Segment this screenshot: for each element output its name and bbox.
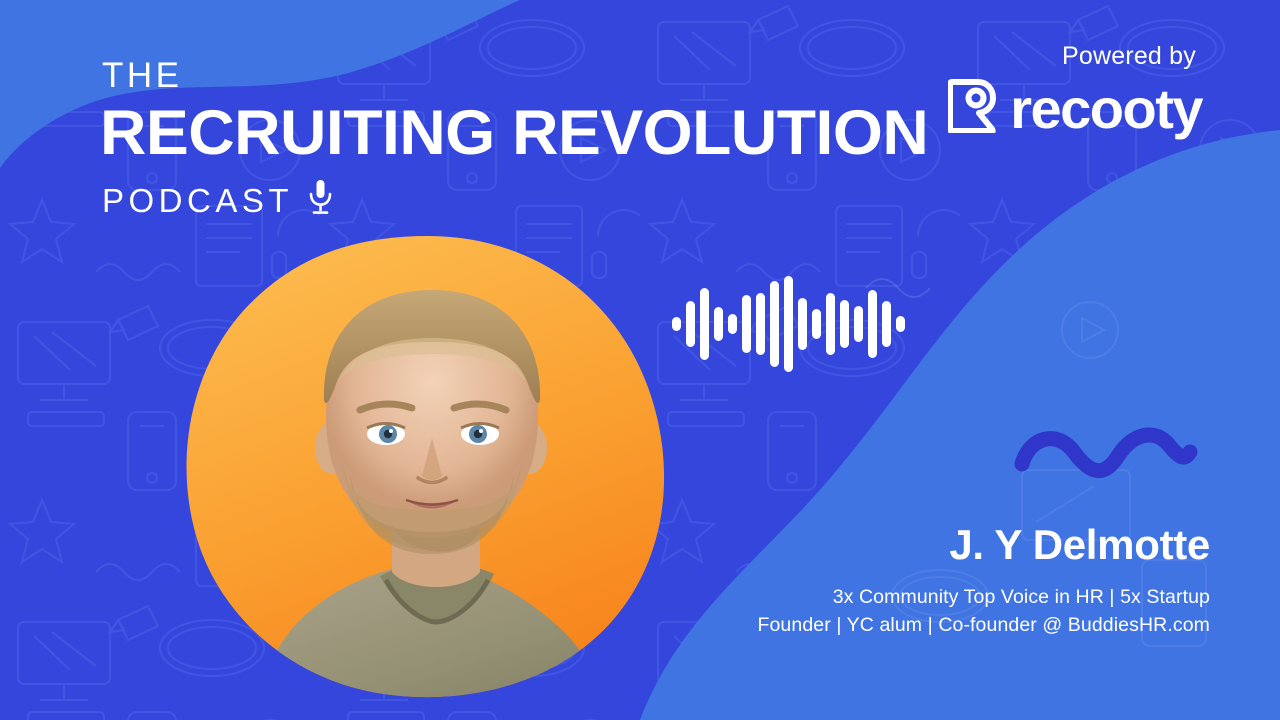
microphone-icon — [307, 179, 334, 221]
waveform-bar — [854, 306, 863, 342]
waveform-bar — [686, 301, 695, 347]
waveform-bar — [784, 276, 793, 372]
waveform-bar — [798, 298, 807, 350]
waveform-bar — [770, 281, 779, 367]
waveform-bar — [728, 314, 737, 334]
waveform-bar — [868, 290, 877, 358]
subtitle-podcast: PODCAST — [102, 184, 293, 217]
guest-bio-line-2: Founder | YC alum | Co-founder @ Buddies… — [670, 612, 1210, 640]
waveform-bar — [756, 293, 765, 355]
podcast-row: PODCAST — [102, 179, 900, 221]
powered-by-label: Powered by — [948, 44, 1196, 69]
recooty-logo: recooty — [948, 79, 1202, 138]
audio-waveform-icon — [672, 278, 912, 370]
recooty-magnifier-logo-icon — [948, 79, 998, 138]
waveform-bar — [896, 316, 905, 332]
waveform-bar — [840, 300, 849, 348]
page-title: RECRUITING REVOLUTION — [100, 101, 916, 165]
waveform-bar — [742, 295, 751, 353]
waveform-bar — [672, 317, 681, 331]
title-block: THE RECRUITING REVOLUTION PODCAST — [100, 58, 900, 221]
guest-portrait — [182, 232, 674, 702]
waveform-bar — [700, 288, 709, 360]
waveform-bar — [812, 309, 821, 339]
waveform-bar — [714, 307, 723, 341]
eyebrow-the: THE — [102, 58, 900, 93]
guest-block: J. Y Delmotte 3x Community Top Voice in … — [670, 524, 1210, 639]
recooty-wordmark: recooty — [1010, 81, 1202, 137]
waveform-bar — [882, 301, 891, 347]
guest-name: J. Y Delmotte — [670, 524, 1210, 566]
brand-block: Powered by recooty — [948, 44, 1202, 138]
podcast-cover-poster: THE RECRUITING REVOLUTION PODCAST Powere… — [0, 0, 1280, 720]
guest-bio-line-1: 3x Community Top Voice in HR | 5x Startu… — [670, 584, 1210, 612]
waveform-bar — [826, 293, 835, 355]
